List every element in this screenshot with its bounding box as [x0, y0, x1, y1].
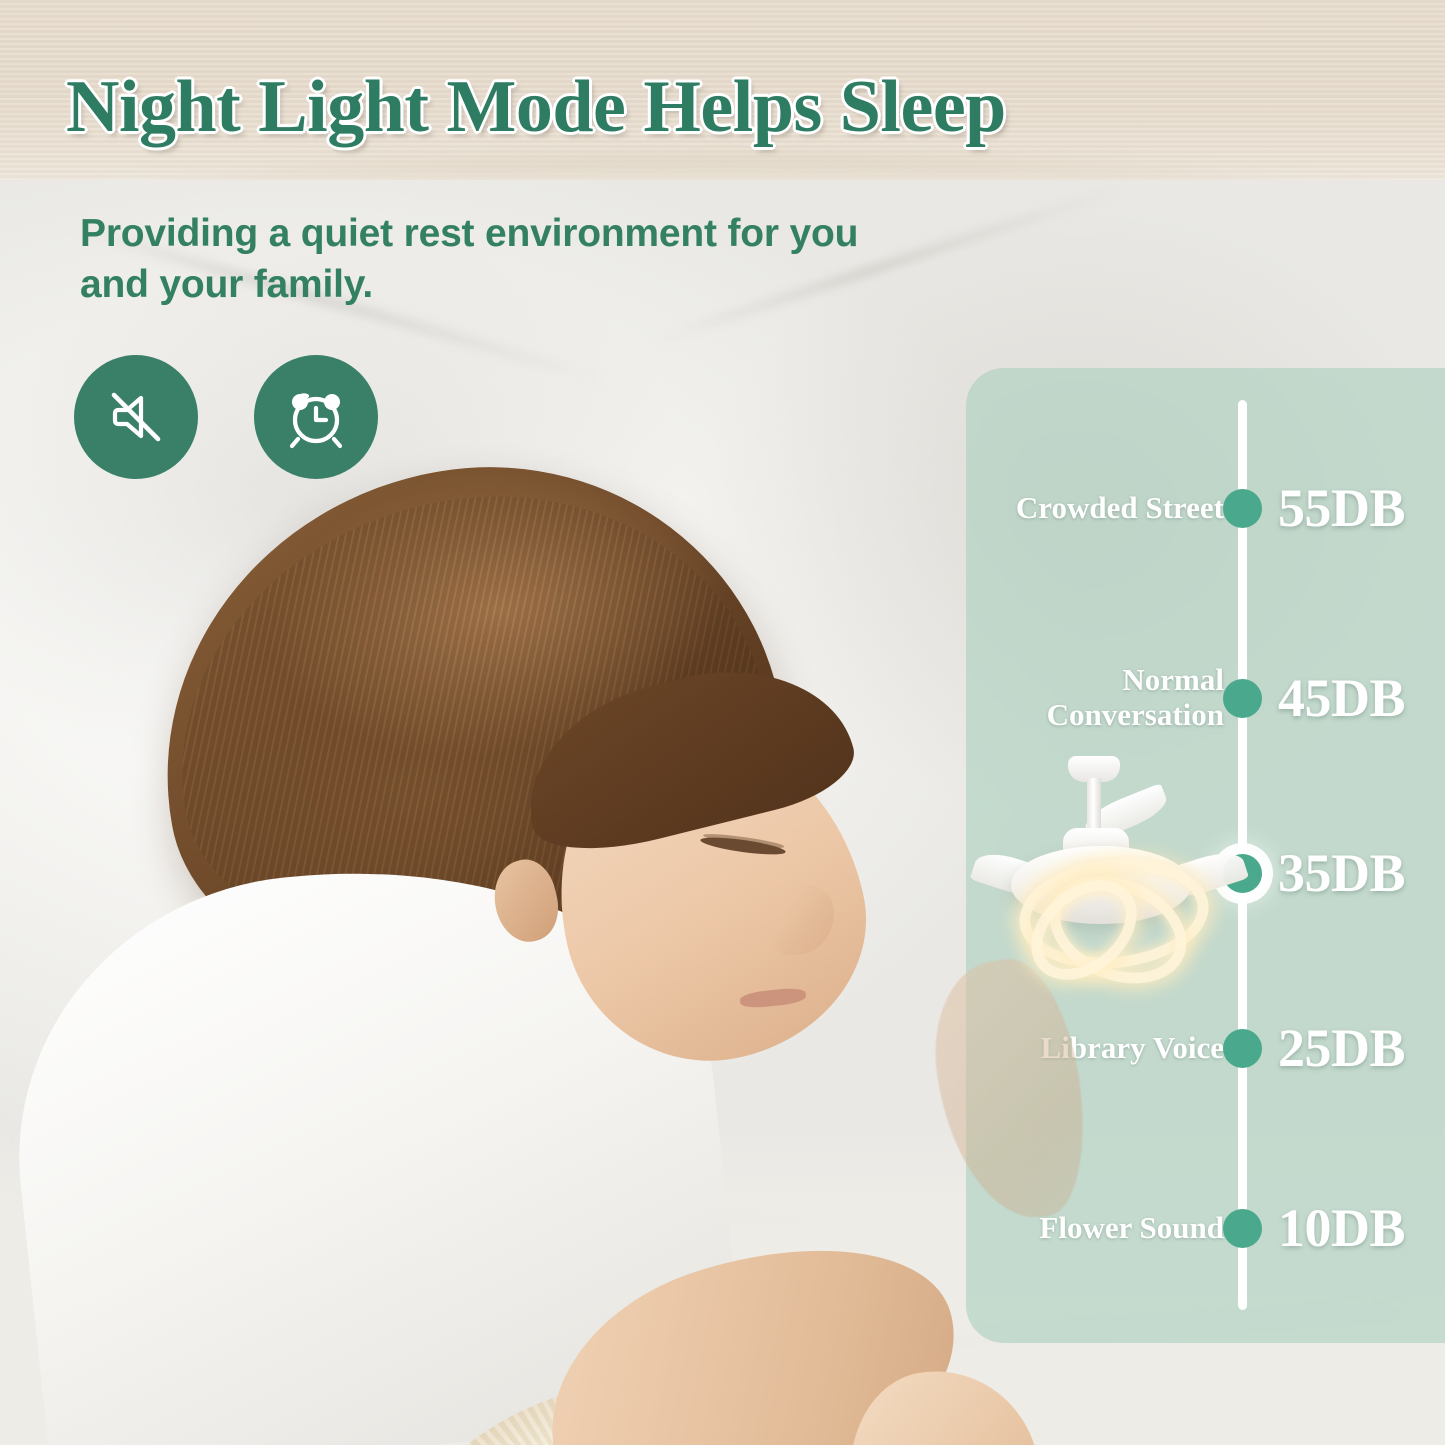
db-value: 25DB	[1278, 1017, 1405, 1079]
db-value: 10DB	[1278, 1197, 1405, 1259]
db-dot	[1223, 1209, 1262, 1248]
feature-icon-row	[74, 355, 378, 479]
db-dot	[1223, 489, 1262, 528]
mute-icon-badge	[74, 355, 198, 479]
db-dot	[1223, 679, 1262, 718]
db-value: 35DB	[1278, 842, 1405, 904]
db-dot	[1223, 1029, 1262, 1068]
mute-icon	[100, 381, 172, 453]
alarm-clock-icon-badge	[254, 355, 378, 479]
db-value: 55DB	[1278, 477, 1405, 539]
page-title: Night Light Mode Helps Sleep	[66, 70, 1006, 144]
db-row-crowded-street: Crowded Street 55DB	[966, 478, 1445, 538]
marketing-banner: Night Light Mode Helps Sleep Providing a…	[0, 0, 1445, 1445]
db-label: Normal Conversation	[976, 663, 1224, 732]
db-row-normal-conversation: Normal Conversation 45DB	[966, 668, 1445, 728]
db-label: Crowded Street	[976, 491, 1224, 526]
alarm-clock-icon	[279, 380, 353, 454]
db-label: Flower Sound	[976, 1211, 1224, 1246]
sleeping-child	[0, 430, 960, 1445]
db-value: 45DB	[1278, 667, 1405, 729]
ceiling-fan-product	[965, 750, 1255, 980]
page-subtitle: Providing a quiet rest environment for y…	[80, 208, 900, 311]
